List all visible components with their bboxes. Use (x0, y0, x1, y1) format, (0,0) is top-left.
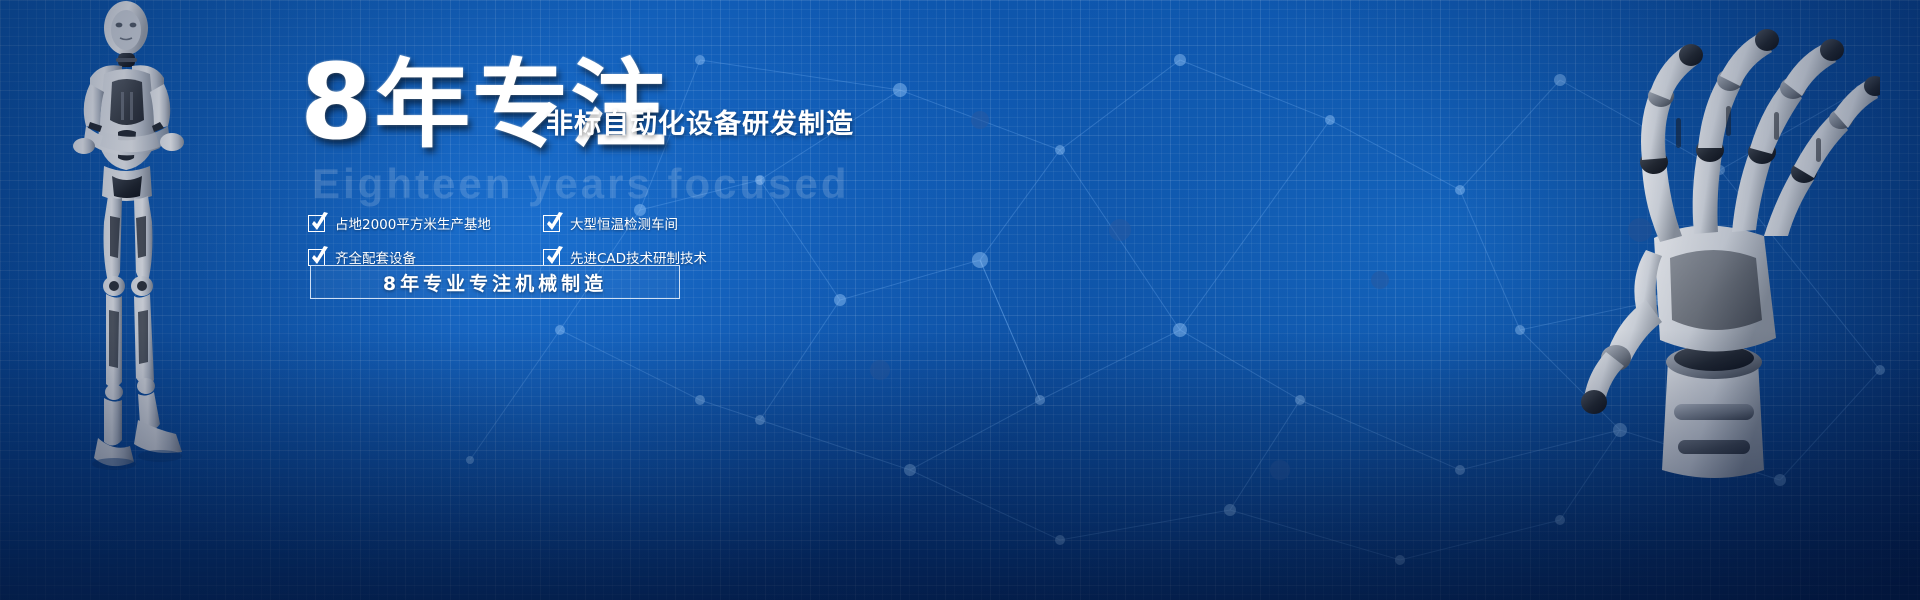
list-item: 大型恒温检测车间 (543, 208, 778, 238)
humanoid-robot-figure (60, 0, 260, 490)
checkmark-icon (308, 249, 325, 266)
headline-row: 8年专注 非标自动化设备研发制造 (300, 60, 1060, 152)
hero-banner: 8年专注 非标自动化设备研发制造 Eighteen years focused … (0, 0, 1920, 600)
feature-label: 先进CAD技术研制技术 (570, 247, 707, 267)
english-subline: Eighteen years focused (312, 160, 850, 208)
headline-number: 8 (300, 41, 374, 163)
feature-label: 齐全配套设备 (335, 247, 416, 267)
robotic-hand-figure (1550, 0, 1880, 490)
feature-label: 占地2000平方米生产基地 (335, 213, 491, 233)
list-item: 占地2000平方米生产基地 (308, 208, 543, 238)
tagline-box: 8年专业专注机械制造 (310, 265, 680, 299)
checkmark-icon (308, 215, 325, 232)
checkmark-icon (543, 215, 560, 232)
headline-subtitle: 非标自动化设备研发制造 (546, 102, 854, 141)
checkmark-icon (543, 249, 560, 266)
tagline-text: 8年专业专注机械制造 (383, 269, 607, 296)
banner-content: 8年专注 非标自动化设备研发制造 Eighteen years focused … (300, 60, 1060, 320)
feature-label: 大型恒温检测车间 (570, 213, 678, 233)
